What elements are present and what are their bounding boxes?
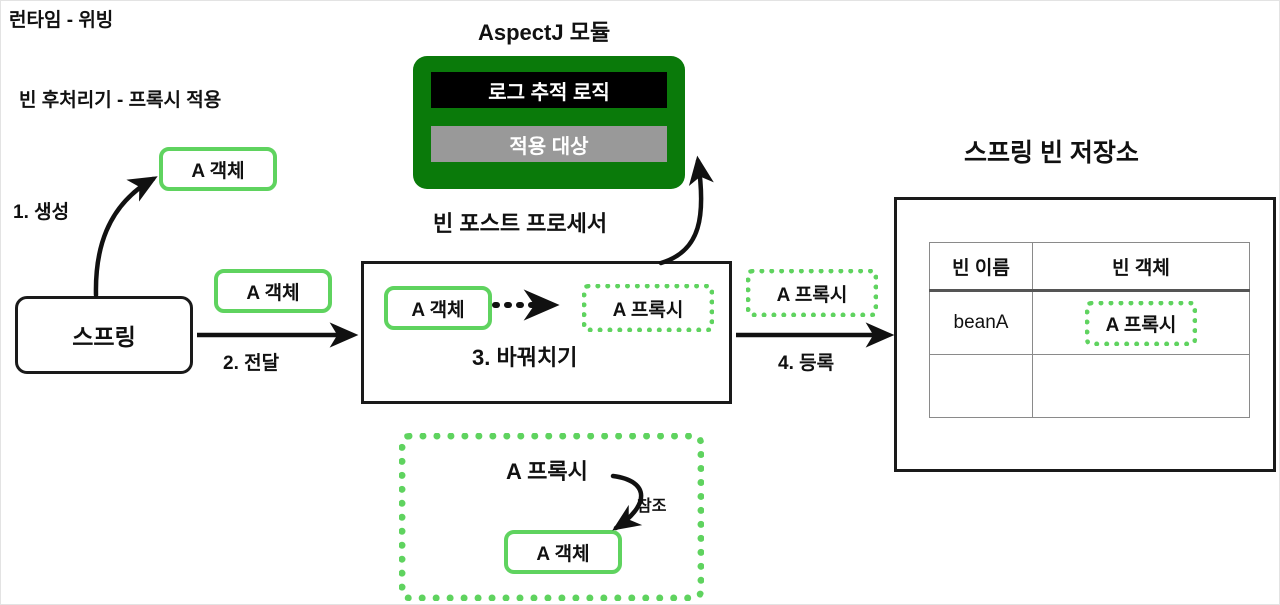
aspectj-log-trace-logic-box: 로그 추적 로직 [431, 72, 667, 108]
cell-bean-object: A 프록시 [1033, 291, 1250, 355]
step3-label: 3. 바꿔치기 [472, 346, 577, 370]
created-a-object-box: A 객체 [159, 147, 277, 191]
spring-box-label: 스프링 [72, 318, 135, 352]
cell-bean-name: beanA [930, 291, 1033, 355]
step1-label: 1. 생성 [13, 203, 69, 224]
table-row [930, 355, 1250, 418]
post-processor-output-proxy: A 프록시 [582, 284, 714, 332]
cell-bean-object-empty [1033, 355, 1250, 418]
proxy-detail-target-object: A 객체 [504, 530, 622, 574]
cell-bean-name-empty [930, 355, 1033, 418]
column-header-bean-object: 빈 객체 [1033, 243, 1250, 291]
column-header-bean-name: 빈 이름 [930, 243, 1033, 291]
bean-store-table: 빈 이름 빈 객체 beanA A 프록시 [929, 242, 1250, 418]
diagram-canvas: 런타임 - 위빙 빈 후처리기 - 프록시 적용 A 객체 1. 생성 스프링 … [0, 0, 1280, 605]
cell-proxy-wrapper: A 프록시 [1033, 292, 1249, 354]
post-processor-input-object: A 객체 [384, 286, 492, 330]
arrow-create [96, 179, 153, 295]
bean-post-processor-box: A 객체 A 프록시 3. 바꿔치기 [361, 261, 732, 404]
aspectj-target-box: 적용 대상 [431, 126, 667, 162]
spring-bean-store-box: 빈 이름 빈 객체 beanA A 프록시 [894, 197, 1276, 472]
step4-label: 4. 등록 [778, 354, 834, 375]
table-row: beanA A 프록시 [930, 291, 1250, 355]
stored-a-proxy-box: A 프록시 [1085, 301, 1198, 346]
proxy-detail-proxy-label: A 프록시 [506, 460, 588, 484]
proxy-detail-box: A 프록시 참조 A 객체 [399, 433, 704, 601]
transfer-a-object-box: A 객체 [214, 269, 332, 313]
title-bean-post-processing: 빈 후처리기 - 프록시 적용 [19, 91, 221, 112]
proxy-detail-reference-label: 참조 [637, 498, 666, 516]
step2-label: 2. 전달 [223, 354, 279, 375]
register-a-proxy-box: A 프록시 [746, 269, 878, 317]
spring-box: 스프링 [15, 296, 193, 374]
title-runtime-weaving: 런타임 - 위빙 [9, 11, 113, 32]
title-bean-post-processor: 빈 포스트 프로세서 [433, 212, 607, 236]
title-aspectj-module: AspectJ 모듈 [478, 21, 610, 45]
title-spring-bean-store: 스프링 빈 저장소 [964, 140, 1139, 168]
table-header-row: 빈 이름 빈 객체 [930, 243, 1250, 291]
aspectj-module-box: 로그 추적 로직 적용 대상 [413, 56, 685, 189]
